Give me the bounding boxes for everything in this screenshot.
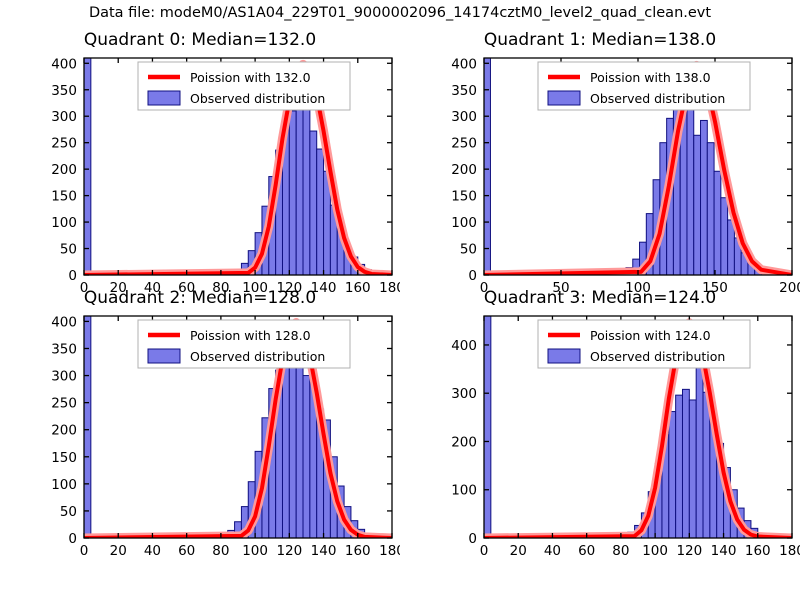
plot-area-quadrant-1: 050100150200050100150200250300350400Pois… bbox=[400, 30, 800, 300]
x-tick-label: 180 bbox=[779, 543, 800, 559]
x-tick-label: 140 bbox=[311, 543, 337, 559]
y-tick-label: 200 bbox=[451, 162, 477, 178]
histogram-bar bbox=[694, 135, 701, 275]
legend-label: Observed distribution bbox=[190, 91, 325, 106]
legend: Poission with 128.0Observed distribution bbox=[138, 320, 350, 368]
x-tick-label: 60 bbox=[578, 543, 595, 559]
x-tick-label: 160 bbox=[745, 543, 771, 559]
histogram-bar bbox=[707, 143, 714, 275]
legend-label: Observed distribution bbox=[190, 349, 325, 364]
y-tick-label: 250 bbox=[51, 396, 77, 412]
x-tick-label: 0 bbox=[480, 543, 489, 559]
legend-label: Poission with 124.0 bbox=[590, 328, 711, 343]
subplot-quadrant-1: Quadrant 1: Median=138.0 050100150200050… bbox=[400, 30, 800, 300]
y-tick-label: 0 bbox=[68, 268, 77, 284]
y-tick-label: 250 bbox=[451, 136, 477, 152]
y-tick-label: 350 bbox=[51, 341, 77, 357]
subplot-title-quadrant-1: Quadrant 1: Median=138.0 bbox=[400, 30, 800, 50]
y-tick-label: 150 bbox=[51, 189, 77, 205]
x-tick-label: 120 bbox=[676, 543, 702, 559]
legend-patch-swatch bbox=[548, 349, 580, 363]
y-tick-label: 100 bbox=[51, 215, 77, 231]
y-tick-label: 50 bbox=[460, 242, 477, 258]
figure-title: Data file: modeM0/AS1A04_229T01_90000020… bbox=[0, 5, 800, 21]
x-tick-label: 80 bbox=[612, 543, 629, 559]
y-tick-label: 100 bbox=[451, 215, 477, 231]
plot-area-quadrant-0: 0204060801001201401601800501001502002503… bbox=[0, 30, 400, 300]
y-tick-label: 300 bbox=[51, 109, 77, 125]
legend-label: Observed distribution bbox=[590, 91, 725, 106]
legend-label: Observed distribution bbox=[590, 349, 725, 364]
y-tick-label: 150 bbox=[451, 189, 477, 205]
histogram-bar bbox=[669, 412, 676, 538]
x-tick-label: 140 bbox=[711, 543, 737, 559]
histogram-bar bbox=[682, 389, 689, 538]
y-tick-label: 250 bbox=[51, 136, 77, 152]
y-tick-label: 200 bbox=[451, 434, 477, 450]
x-tick-label: 160 bbox=[345, 543, 371, 559]
legend: Poission with 138.0Observed distribution bbox=[538, 62, 750, 110]
histogram-bar bbox=[289, 351, 296, 538]
y-tick-label: 400 bbox=[451, 56, 477, 72]
y-tick-label: 400 bbox=[451, 338, 477, 354]
legend-label: Poission with 132.0 bbox=[190, 70, 311, 85]
histogram-bar bbox=[84, 42, 91, 275]
x-tick-label: 20 bbox=[510, 543, 527, 559]
y-tick-label: 350 bbox=[451, 83, 477, 99]
y-tick-label: 200 bbox=[51, 423, 77, 439]
histogram-bar bbox=[303, 376, 310, 538]
plot-area-quadrant-2: 0204060801001201401601800501001502002503… bbox=[0, 288, 400, 563]
legend-label: Poission with 138.0 bbox=[590, 70, 711, 85]
legend-patch-swatch bbox=[548, 91, 580, 105]
legend-label: Poission with 128.0 bbox=[190, 328, 311, 343]
histogram-bar bbox=[701, 120, 708, 275]
y-tick-label: 350 bbox=[51, 83, 77, 99]
histogram-bar bbox=[689, 400, 696, 538]
y-tick-label: 300 bbox=[451, 386, 477, 402]
x-tick-label: 100 bbox=[642, 543, 668, 559]
subplot-quadrant-0: Quadrant 0: Median=132.0 020406080100120… bbox=[0, 30, 400, 300]
x-tick-label: 100 bbox=[242, 543, 268, 559]
legend: Poission with 124.0Observed distribution bbox=[538, 320, 750, 368]
y-tick-label: 200 bbox=[51, 162, 77, 178]
y-tick-label: 0 bbox=[468, 531, 477, 547]
histogram-bar bbox=[303, 89, 310, 275]
histogram-bar bbox=[721, 198, 728, 275]
histogram-bar bbox=[714, 171, 721, 275]
y-tick-label: 400 bbox=[51, 56, 77, 72]
subplot-quadrant-2: Quadrant 2: Median=128.0 020406080100120… bbox=[0, 288, 400, 563]
y-tick-label: 100 bbox=[451, 483, 477, 499]
histogram-bar bbox=[84, 300, 91, 538]
histogram-bar bbox=[289, 111, 296, 275]
x-tick-label: 40 bbox=[144, 543, 161, 559]
y-tick-label: 50 bbox=[60, 242, 77, 258]
histogram-bar bbox=[296, 91, 303, 275]
legend-patch-swatch bbox=[148, 91, 180, 105]
x-tick-label: 180 bbox=[379, 543, 400, 559]
y-tick-label: 0 bbox=[68, 531, 77, 547]
subplot-title-quadrant-3: Quadrant 3: Median=124.0 bbox=[400, 288, 800, 308]
legend: Poission with 132.0Observed distribution bbox=[138, 62, 350, 110]
figure-canvas: Data file: modeM0/AS1A04_229T01_90000020… bbox=[0, 0, 800, 600]
legend-patch-swatch bbox=[148, 349, 180, 363]
y-tick-label: 0 bbox=[468, 268, 477, 284]
histogram-bar bbox=[310, 131, 317, 275]
histogram-bar bbox=[676, 395, 683, 538]
x-tick-label: 20 bbox=[110, 543, 127, 559]
x-tick-label: 80 bbox=[212, 543, 229, 559]
y-tick-label: 300 bbox=[51, 369, 77, 385]
x-tick-label: 40 bbox=[544, 543, 561, 559]
y-tick-label: 300 bbox=[451, 109, 477, 125]
x-tick-label: 60 bbox=[178, 543, 195, 559]
y-tick-label: 100 bbox=[51, 477, 77, 493]
y-tick-label: 150 bbox=[51, 450, 77, 466]
histogram-bar bbox=[317, 149, 324, 275]
y-tick-label: 400 bbox=[51, 314, 77, 330]
subplot-title-quadrant-2: Quadrant 2: Median=128.0 bbox=[0, 288, 400, 308]
y-tick-label: 50 bbox=[60, 504, 77, 520]
plot-area-quadrant-3: 0204060801001201401601800100200300400Poi… bbox=[400, 288, 800, 563]
x-tick-label: 0 bbox=[80, 543, 89, 559]
histogram-bar bbox=[484, 47, 491, 275]
x-tick-label: 120 bbox=[276, 543, 302, 559]
subplot-title-quadrant-0: Quadrant 0: Median=132.0 bbox=[0, 30, 400, 50]
histogram-bar bbox=[728, 220, 735, 275]
subplot-quadrant-3: Quadrant 3: Median=124.0 020406080100120… bbox=[400, 288, 800, 563]
